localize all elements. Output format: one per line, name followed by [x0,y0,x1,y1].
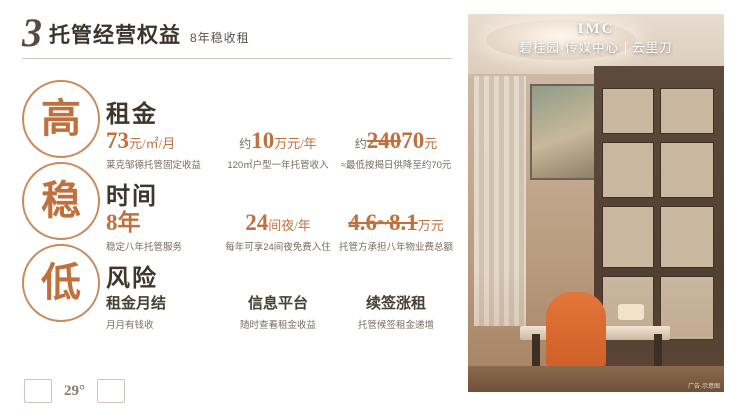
row-label: 风险 [106,258,158,293]
photo-desk-lamp [618,304,644,320]
page-title: 托管经营权益8年稳收租 [49,23,250,50]
stat-desc: 托管候签租金递增 [338,319,454,333]
stat-value: 约10万元/年 [218,128,338,157]
stat-number: 10 [251,128,274,153]
temperature-value: 29° [64,383,85,400]
brand-sub: 云里刀 [632,39,673,57]
badge-label: 高 [41,97,81,141]
header-divider [22,58,452,59]
row-label: 租金 [106,94,158,129]
stat-number-struck: 4.6~8.1 [348,210,417,235]
badge-circle: 低 [22,244,100,322]
stat-value: 24间夜/年 [218,210,338,239]
stat-value: 信息平台 [218,292,338,316]
stat-number: 24 [245,210,268,235]
brand-mark: IMC [468,20,724,38]
stat-number: 70 [401,128,424,153]
badge-circle: 稳 [22,162,100,240]
stat-unit: 万元 [418,218,444,233]
badge-label: 低 [41,261,81,305]
stat-number: 8年 [106,210,141,235]
stat-desc: 月月有钱收 [106,319,218,333]
stat-unit: 元 [424,136,437,151]
slide-page: 3 托管经营权益8年稳收租 高 租金 73元/㎡/月 莱克邹德托管固定收益 [0,0,740,417]
photo-chair [546,292,606,370]
footer-temperature: 29° [64,383,85,400]
benefit-row: 低 风险 租金月结 月月有钱收 信息平台 随时查看租金收益 续签涨租 托管候签租… [22,244,452,326]
shelf-cell [602,88,654,134]
photo-disclaimer: 广告·示意图 [688,381,720,390]
stat-number-struck: 240 [367,128,402,153]
photo-floor [468,366,724,392]
footer-marks: 29° [24,379,140,403]
shelf-cell [602,206,654,268]
interior-photo: IMC 碧桂园·传媒中心 云里刀 广告·示意图 [468,14,724,392]
stat-unit: 元/㎡/月 [129,136,175,151]
benefit-row: 稳 时间 8年 稳定八年托管服务 24间夜/年 每年可享24间夜免费入住 [22,162,452,244]
brand-logo: IMC 碧桂园·传媒中心 云里刀 [468,14,724,57]
photo-wall-art [530,84,596,180]
row-label: 时间 [106,176,158,211]
stat-number: 73 [106,128,129,153]
shelf-cell [602,142,654,198]
shelf-cell [660,88,714,134]
stat-value: 约24070元 [338,128,454,157]
benefit-row: 高 租金 73元/㎡/月 莱克邹德托管固定收益 约10万元/年 120㎡户型一年… [22,80,452,162]
stat-unit: 间夜/年 [268,218,311,233]
logo-mark-icon [24,379,52,403]
badge-circle: 高 [22,80,100,158]
page-subtitle: 8年稳收租 [190,31,250,45]
stat-cell: 租金月结 月月有钱收 [106,292,218,333]
stat-value: 4.6~8.1万元 [338,210,454,239]
brand-name: 碧桂园·传媒中心 [519,39,619,57]
shelf-cell [660,206,714,268]
stat-unit: 万元/年 [274,136,317,151]
badge-label: 稳 [41,179,81,223]
benefit-rows: 高 租金 73元/㎡/月 莱克邹德托管固定收益 约10万元/年 120㎡户型一年… [22,80,452,326]
shelf-cell [660,142,714,198]
stat-cell: 续签涨租 托管候签租金递增 [338,292,454,333]
brand-divider [625,42,626,54]
stat-desc: 随时查看租金收益 [218,319,338,333]
stat-prefix: 约 [239,137,251,151]
stamp-icon [97,379,125,403]
page-title-text: 托管经营权益 [49,24,181,47]
stat-value: 租金月结 [106,292,218,316]
stat-value: 73元/㎡/月 [106,128,218,157]
stat-value: 8年 [106,210,218,239]
row-stats: 租金月结 月月有钱收 信息平台 随时查看租金收益 续签涨租 托管候签租金递增 [106,292,454,333]
stat-prefix: 约 [355,137,367,151]
footer-mark-1 [24,379,52,403]
stat-value: 续签涨租 [338,292,454,316]
brand-text: 碧桂园·传媒中心 云里刀 [468,39,724,57]
footer-mark-2 [97,379,128,403]
section-number: 3 [22,16,41,50]
page-header: 3 托管经营权益8年稳收租 [22,16,250,50]
stat-cell: 信息平台 随时查看租金收益 [218,292,338,333]
